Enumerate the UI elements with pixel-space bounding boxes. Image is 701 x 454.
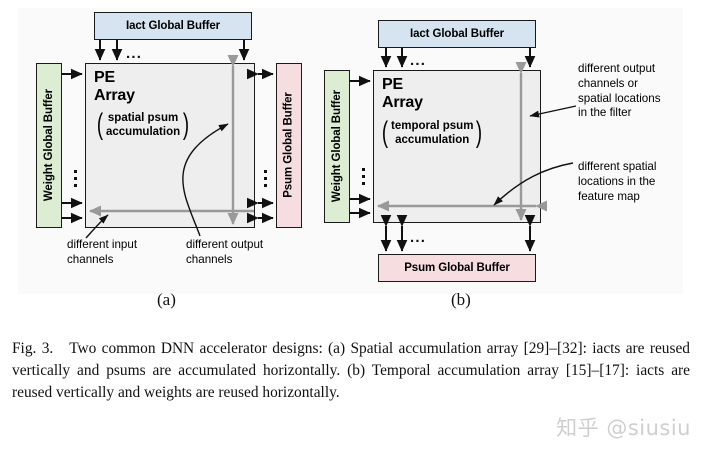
psum-global-buffer-a: Psum Global Buffer	[276, 63, 302, 228]
iact-global-buffer-a-label: Iact Global Buffer	[126, 20, 220, 32]
anno-b-top-line4: in the filter	[578, 106, 632, 119]
anno-a-right-line2: channels	[186, 253, 232, 266]
anno-b-bottom-line1: different spatial	[578, 160, 656, 173]
figure-3: Iact Global Buffer Weight Global Buffer …	[0, 0, 701, 322]
pe-array-b: PE Array ( temporal psum accumulation )	[373, 70, 541, 223]
accumulation-b-line1: temporal psum	[391, 120, 473, 132]
figure-caption-text: Two common DNN accelerator designs: (a) …	[12, 340, 690, 401]
psum-global-buffer-a-label: Psum Global Buffer	[283, 93, 295, 199]
weight-fanout-ellipsis-a	[74, 170, 77, 191]
weight-global-buffer-a-label: Weight Global Buffer	[43, 89, 55, 201]
iact-fanout-ellipsis-a: ...	[126, 46, 142, 61]
annotation-different-spatial-locations-feature-map: different spatial locations in the featu…	[578, 160, 656, 204]
accumulation-a-line1: spatial psum	[108, 112, 178, 124]
weight-global-buffer-a: Weight Global Buffer	[36, 63, 62, 228]
anno-a-left-line2: channels	[67, 253, 113, 266]
weight-fanout-ellipsis-b	[362, 168, 365, 189]
pe-array-b-title-line1: PE	[382, 76, 403, 93]
pe-array-a-title-line2: Array	[94, 87, 135, 104]
pe-array-b-title: PE Array	[382, 76, 423, 112]
pe-array-b-title-line2: Array	[382, 94, 423, 111]
anno-a-right-line1: different output	[186, 238, 263, 251]
figure-caption-label: Fig. 3.	[12, 340, 53, 357]
psum-global-buffer-b: Psum Global Buffer	[378, 254, 536, 282]
iact-fanout-ellipsis-b: ...	[410, 53, 426, 68]
iact-global-buffer-a: Iact Global Buffer	[94, 12, 252, 40]
accumulation-b-line2: accumulation	[395, 134, 469, 146]
iact-global-buffer-b: Iact Global Buffer	[378, 20, 536, 48]
pe-array-a-accumulation: ( spatial psum accumulation )	[95, 111, 191, 139]
weight-global-buffer-b: Weight Global Buffer	[324, 70, 350, 223]
accumulation-a-line2: accumulation	[106, 126, 180, 138]
anno-b-top-line3: spatial locations	[578, 92, 661, 105]
annotation-different-input-channels: different input channels	[67, 238, 137, 268]
anno-b-bottom-line2: locations in the	[578, 175, 655, 188]
iact-global-buffer-b-label: Iact Global Buffer	[410, 28, 504, 40]
pe-array-a-title-line1: PE	[94, 69, 115, 86]
subfigure-label-b: (b)	[451, 290, 471, 310]
annotation-different-output-channels: different output channels	[186, 238, 263, 268]
psum-fanout-ellipsis-b: ...	[410, 230, 426, 245]
psum-global-buffer-b-label: Psum Global Buffer	[404, 262, 510, 274]
watermark: 知乎 @siusiu	[556, 412, 691, 442]
pe-array-a: PE Array ( spatial psum accumulation )	[85, 63, 255, 228]
pe-array-a-title: PE Array	[94, 69, 135, 105]
left-paren-b: (	[382, 121, 388, 144]
psum-fanout-ellipsis-a	[264, 170, 267, 191]
anno-b-bottom-line3: feature map	[578, 190, 640, 203]
anno-a-left-line1: different input	[67, 238, 137, 251]
right-paren-b: )	[476, 121, 482, 144]
subfigure-label-a: (a)	[157, 290, 176, 310]
left-paren-a: (	[97, 113, 103, 136]
right-paren-a: )	[183, 113, 189, 136]
anno-b-top-line1: different output	[578, 62, 655, 75]
weight-global-buffer-b-label: Weight Global Buffer	[331, 90, 343, 202]
annotation-different-output-channels-filter: different output channels or spatial loc…	[578, 62, 661, 121]
figure-caption: Fig. 3. Two common DNN accelerator desig…	[12, 338, 690, 405]
anno-b-top-line2: channels or	[578, 77, 638, 90]
pe-array-b-accumulation: ( temporal psum accumulation )	[380, 119, 484, 147]
